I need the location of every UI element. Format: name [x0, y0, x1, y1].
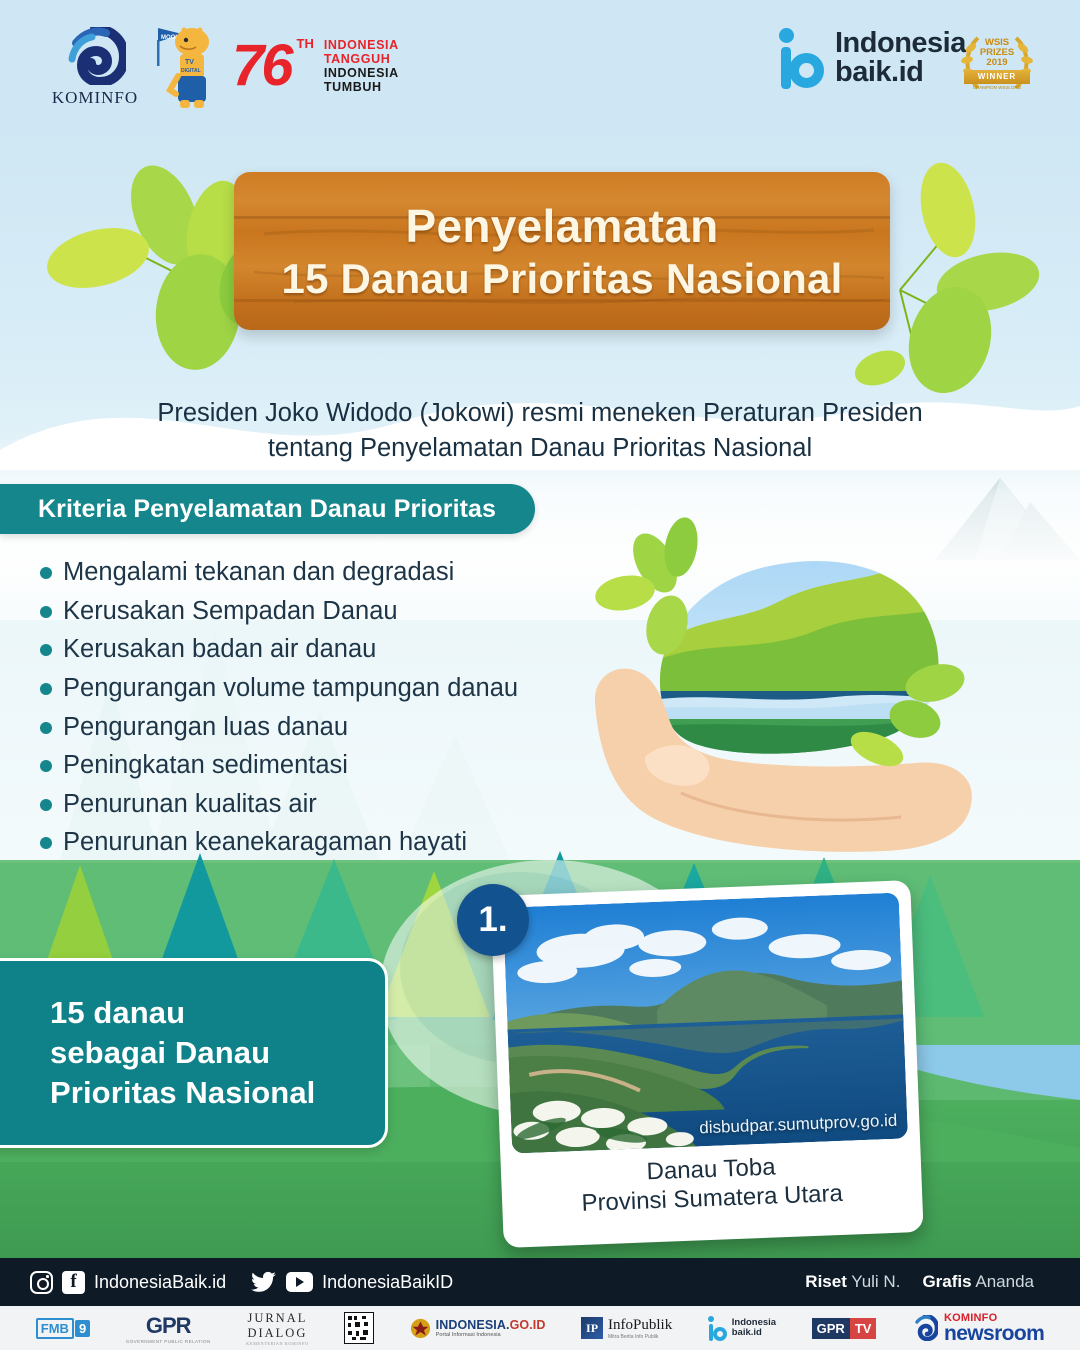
- indonesiabaik-small-icon: [708, 1316, 727, 1341]
- bullet-icon: [40, 606, 52, 618]
- lake-card[interactable]: disbudpar.sumutprov.go.id Danau Toba Pro…: [490, 880, 923, 1248]
- partner-logo-jurnal-dialog: JURNAL DIALOG KEMENTERIAN KOMINFO: [246, 1311, 308, 1345]
- infopublik-title: InfoPublik: [608, 1317, 672, 1334]
- gprtv-text-a: GPR: [812, 1318, 850, 1339]
- gpr-sub: GOVERNMENT PUBLIC RELATION: [126, 1339, 211, 1344]
- list-item: Peningkatan sedimentasi: [40, 749, 600, 781]
- brand-line-1: Indonesia: [835, 29, 966, 58]
- criteria-title-banner: Kriteria Penyelamatan Danau Prioritas: [0, 484, 535, 534]
- criteria-item-label: Penurunan keanekaragaman hayati: [63, 826, 467, 858]
- hand-holding-lake-illustration: [585, 505, 1015, 865]
- newsroom-line-2: newsroom: [944, 1324, 1044, 1344]
- partner-logo-gpr-tv: GPR TV: [812, 1311, 877, 1345]
- criteria-item-label: Pengurangan volume tampungan danau: [63, 672, 518, 704]
- riset-credit: Riset Yuli N.: [805, 1272, 900, 1292]
- bullet-icon: [40, 722, 52, 734]
- bullet-icon: [40, 760, 52, 772]
- gpr-text: GPR: [126, 1313, 211, 1339]
- idgo-sub: Portal Informasi Indonesia: [436, 1332, 546, 1338]
- callout-line-1: 15 danau: [50, 993, 385, 1033]
- criteria-item-label: Pengurangan luas danau: [63, 711, 348, 743]
- infographic-page: Penyelamatan 15 Danau Prioritas Nasional…: [0, 0, 1080, 1350]
- anniversary-line-4: TUMBUH: [324, 80, 399, 94]
- wsis-award-badge: WSIS PRIZES 2019 WINNER CHAMPION WSIS.OR…: [958, 30, 1036, 98]
- subtitle-line-2: tentang Penyelamatan Danau Prioritas Nas…: [90, 431, 990, 466]
- indonesiabaik-logo: Indonesia baik.id: [778, 28, 966, 88]
- list-item: Mengalami tekanan dan degradasi: [40, 556, 600, 588]
- footer-social-bar: f IndonesiaBaik.id IndonesiaBaikID Riset…: [0, 1258, 1080, 1306]
- criteria-item-label: Penurunan kualitas air: [63, 788, 317, 820]
- partner-logo-gpr: GPR GOVERNMENT PUBLIC RELATION: [126, 1311, 211, 1345]
- anniversary-line-1: INDONESIA: [324, 38, 399, 52]
- partner-logo-indonesiabaik: Indonesia baik.id: [708, 1311, 776, 1345]
- bullet-icon: [40, 837, 52, 849]
- infopublik-mark: IP: [581, 1317, 603, 1339]
- kominfo-swirl-icon: [64, 27, 126, 85]
- callout-line-3: Prioritas Nasional: [50, 1073, 385, 1113]
- callout-line-2: sebagai Danau: [50, 1033, 385, 1073]
- wsis-line-3: 2019: [986, 58, 1007, 68]
- lake-number-badge: 1.: [457, 884, 529, 956]
- kominfo-label: KOMINFO: [52, 88, 138, 108]
- banner-line-1: Penyelamatan: [406, 199, 719, 253]
- fmb9-text-a: FMB: [36, 1318, 74, 1339]
- title-banner: Penyelamatan 15 Danau Prioritas Nasional: [234, 172, 890, 330]
- instagram-icon[interactable]: [30, 1271, 53, 1294]
- jurnal-line-2: DIALOG: [246, 1326, 308, 1341]
- list-item: Pengurangan luas danau: [40, 711, 600, 743]
- partner-logo-kominfo-qr: [344, 1311, 374, 1345]
- grafis-name: Ananda: [975, 1272, 1034, 1291]
- brand-line-2: baik.id: [835, 58, 966, 87]
- svg-text:MOOI: MOOI: [161, 35, 177, 41]
- partner-logo-infopublik: IP InfoPublik Mitra Berita Info Publik: [581, 1311, 672, 1345]
- list-item: Kerusakan Sempadan Danau: [40, 595, 600, 627]
- kominfo-newsroom-swirl-icon: [912, 1315, 938, 1341]
- riset-name: Yuli N.: [851, 1272, 900, 1291]
- idgo-title: INDONESIA.GO.ID: [436, 1318, 546, 1332]
- list-item: Penurunan keanekaragaman hayati: [40, 826, 600, 858]
- grafis-credit: Grafis Ananda: [922, 1272, 1034, 1292]
- partner-logo-fmb9: FMB 9: [36, 1311, 90, 1345]
- anniversary-number: 76: [232, 37, 291, 95]
- ib-small-line-2: baik.id: [732, 1328, 776, 1338]
- list-item: Kerusakan badan air danau: [40, 633, 600, 665]
- kominfo-logo: KOMINFO: [40, 24, 150, 110]
- svg-text:TV: TV: [185, 59, 194, 66]
- list-item: Penurunan kualitas air: [40, 788, 600, 820]
- criteria-list: Mengalami tekanan dan degradasi Kerusaka…: [40, 556, 600, 865]
- anniversary-th: TH: [297, 36, 314, 51]
- footer-credits: Riset Yuli N. Grafis Ananda: [805, 1272, 1034, 1292]
- bullet-icon: [40, 644, 52, 656]
- social-handles: f IndonesiaBaik.id IndonesiaBaikID: [30, 1271, 469, 1294]
- riset-label: Riset: [805, 1272, 847, 1291]
- banner-line-2: 15 Danau Prioritas Nasional: [282, 255, 843, 303]
- youtube-handle: IndonesiaBaikID: [322, 1272, 453, 1293]
- anniversary-text: INDONESIA TANGGUH INDONESIA TUMBUH: [324, 38, 399, 94]
- qr-code-icon: [344, 1312, 374, 1344]
- callout-box: 15 danau sebagai Danau Prioritas Nasiona…: [0, 958, 388, 1148]
- wsis-ribbon-label: WINNER: [964, 70, 1030, 84]
- twitter-icon[interactable]: [251, 1271, 277, 1293]
- indonesiabaik-wordmark: Indonesia baik.id: [835, 29, 966, 87]
- gprtv-text-b: TV: [850, 1318, 877, 1339]
- garuda-icon: [410, 1318, 431, 1339]
- partner-logo-kominfo-newsroom: KOMINFO newsroom: [912, 1311, 1044, 1345]
- criteria-item-label: Kerusakan Sempadan Danau: [63, 595, 398, 627]
- anniversary-76-logo: 76 TH INDONESIA TANGGUH INDONESIA TUMBUH: [232, 26, 399, 106]
- indonesiabaik-mark-icon: [778, 28, 824, 88]
- indonesiabaik-small-text: Indonesia baik.id: [732, 1318, 776, 1338]
- kominfo-newsroom-text: KOMINFO newsroom: [944, 1312, 1044, 1344]
- criteria-item-label: Kerusakan badan air danau: [63, 633, 376, 665]
- list-item: Pengurangan volume tampungan danau: [40, 672, 600, 704]
- grafis-label: Grafis: [922, 1272, 971, 1291]
- bullet-icon: [40, 567, 52, 579]
- partner-logo-strip: FMB 9 GPR GOVERNMENT PUBLIC RELATION JUR…: [0, 1306, 1080, 1350]
- subtitle-block: Presiden Joko Widodo (Jokowi) resmi mene…: [90, 396, 990, 466]
- indonesia-go-id-text: INDONESIA.GO.ID Portal Informasi Indones…: [436, 1318, 546, 1338]
- svg-text:DIGITAL: DIGITAL: [181, 68, 201, 74]
- jurnal-sub: KEMENTERIAN KOMINFO: [246, 1341, 308, 1346]
- bullet-icon: [40, 799, 52, 811]
- criteria-item-label: Peningkatan sedimentasi: [63, 749, 348, 781]
- anniversary-line-3: INDONESIA: [324, 66, 399, 80]
- lake-photo: disbudpar.sumutprov.go.id: [503, 893, 908, 1154]
- infopublik-text: InfoPublik Mitra Berita Info Publik: [608, 1317, 672, 1340]
- header-bar: KOMINFO MOOI TV DIGITAL 76 TH INDONESIA …: [0, 0, 1080, 128]
- tv-digital-mascot-icon: MOOI TV DIGITAL: [140, 16, 220, 116]
- facebook-handle: IndonesiaBaik.id: [94, 1272, 226, 1293]
- anniversary-line-2: TANGGUH: [324, 52, 399, 66]
- criteria-item-label: Mengalami tekanan dan degradasi: [63, 556, 454, 588]
- lake-card-body: disbudpar.sumutprov.go.id Danau Toba Pro…: [490, 880, 923, 1248]
- partner-logo-indonesia-go-id: INDONESIA.GO.ID Portal Informasi Indones…: [410, 1311, 546, 1345]
- infopublik-sub: Mitra Berita Info Publik: [608, 1334, 672, 1340]
- subtitle-line-1: Presiden Joko Widodo (Jokowi) resmi mene…: [90, 396, 990, 431]
- youtube-icon[interactable]: [286, 1272, 313, 1292]
- wsis-sub-label: CHAMPION WSIS.ORG: [973, 85, 1022, 90]
- facebook-icon[interactable]: f: [62, 1271, 85, 1294]
- bullet-icon: [40, 683, 52, 695]
- wsis-inner: WSIS PRIZES 2019 WINNER CHAMPION WSIS.OR…: [958, 30, 1036, 98]
- fmb9-text-b: 9: [75, 1320, 90, 1337]
- jurnal-line-1: JURNAL: [246, 1311, 308, 1326]
- lake-caption: Danau Toba Provinsi Sumatera Utara: [513, 1147, 911, 1221]
- criteria-title: Kriteria Penyelamatan Danau Prioritas: [38, 495, 496, 524]
